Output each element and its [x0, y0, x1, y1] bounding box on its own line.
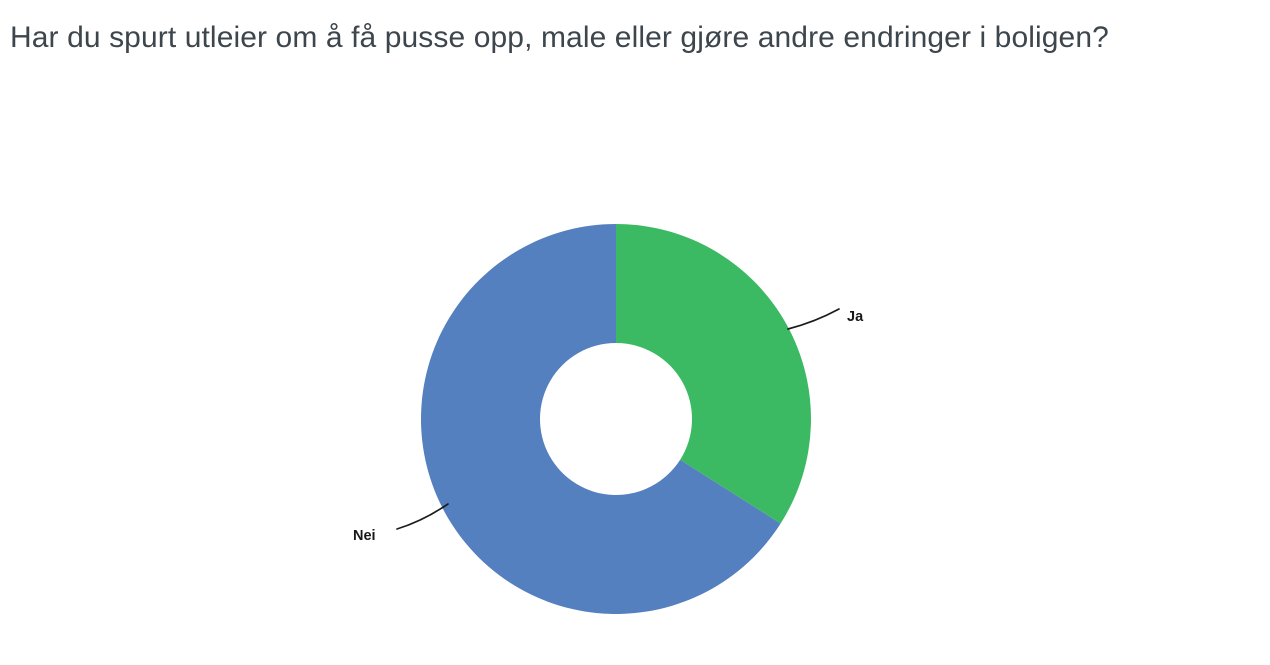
- leader-line-ja: [788, 309, 839, 329]
- pie-label-nei: Nei: [353, 528, 376, 544]
- pie-slice-ja[interactable]: [616, 224, 811, 523]
- leader-line-nei: [397, 504, 448, 529]
- donut-chart-svg: Ja Nei: [0, 0, 1270, 665]
- pie-label-ja: Ja: [847, 309, 864, 325]
- donut-chart: Ja Nei: [0, 0, 1270, 665]
